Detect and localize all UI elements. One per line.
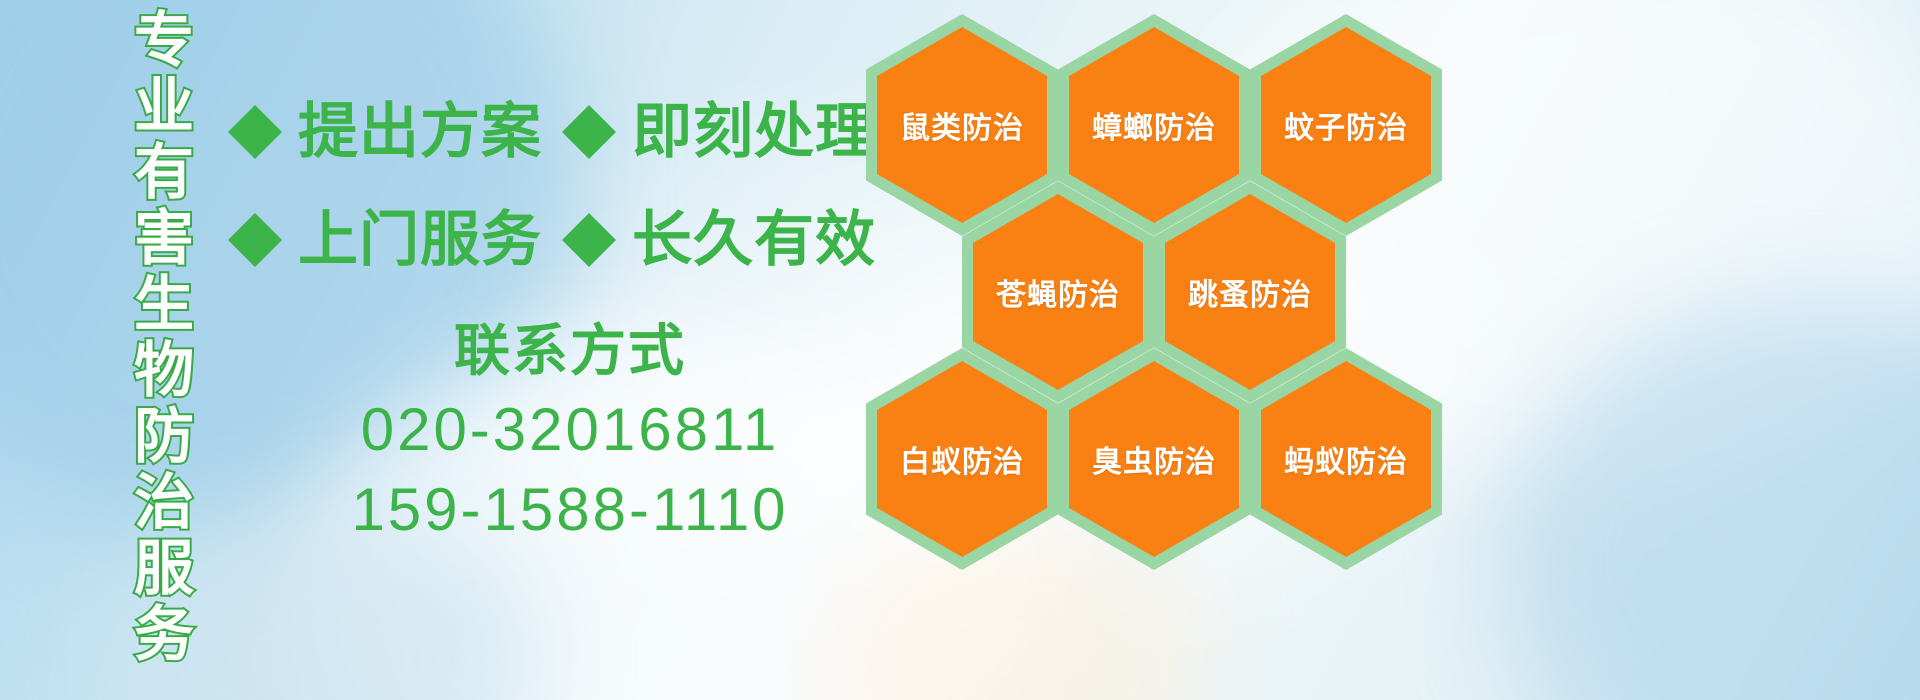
headline-char: 服	[134, 536, 194, 602]
diamond-icon	[228, 78, 282, 132]
service-hex-label: 蚊子防治	[1284, 103, 1408, 147]
headline-char: 业	[134, 74, 194, 140]
background-blob	[1500, 300, 1920, 700]
feature-label: 长久有效	[632, 210, 876, 270]
pest-control-banner: 专 业 有 害 生 物 防 治 服 务 提出方案 即刻处理 上门服务	[0, 0, 1920, 700]
service-hex-label: 蚂蚁防治	[1284, 437, 1408, 481]
feature-label: 上门服务	[298, 210, 542, 270]
headline-char: 害	[134, 206, 194, 272]
contact-title: 联系方式	[260, 312, 880, 390]
feature-row: 上门服务 长久有效	[228, 186, 878, 294]
service-hex-grid: 鼠类防治 蟑螂防治 蚊子防治 苍蝇防治 跳蚤防治 白蚁防治 臭虫防治 蚂蚁	[862, 6, 1462, 566]
feature-item: 长久有效	[562, 210, 876, 270]
feature-list: 提出方案 即刻处理 上门服务 长久有效	[228, 78, 878, 294]
feature-label: 即刻处理	[632, 102, 876, 162]
service-hex-label: 苍蝇防治	[996, 270, 1120, 314]
headline-char: 物	[134, 338, 194, 404]
feature-label: 提出方案	[298, 102, 542, 162]
feature-item: 即刻处理	[562, 102, 876, 162]
service-hex-label: 臭虫防治	[1092, 437, 1216, 481]
feature-row: 提出方案 即刻处理	[228, 78, 878, 186]
headline-char: 有	[134, 140, 194, 206]
service-hex-label: 白蚁防治	[900, 437, 1024, 481]
service-hex-label: 跳蚤防治	[1188, 270, 1312, 314]
headline-char: 专	[134, 8, 194, 74]
headline-char: 防	[134, 404, 194, 470]
headline-char: 生	[134, 272, 194, 338]
diamond-icon	[228, 186, 282, 240]
contact-phone-landline[interactable]: 020-32016811	[260, 390, 880, 470]
contact-phone-mobile[interactable]: 159-1588-1110	[260, 470, 880, 550]
service-hex-label: 蟑螂防治	[1092, 103, 1216, 147]
feature-item: 上门服务	[228, 210, 542, 270]
service-hex-label: 鼠类防治	[900, 103, 1024, 147]
feature-item: 提出方案	[228, 102, 542, 162]
contact-block: 联系方式 020-32016811 159-1588-1110	[260, 312, 880, 550]
headline-char: 治	[134, 470, 194, 536]
headline-char: 务	[134, 602, 194, 668]
vertical-headline: 专 业 有 害 生 物 防 治 服 务	[112, 8, 216, 692]
diamond-icon	[562, 186, 616, 240]
diamond-icon	[562, 78, 616, 132]
